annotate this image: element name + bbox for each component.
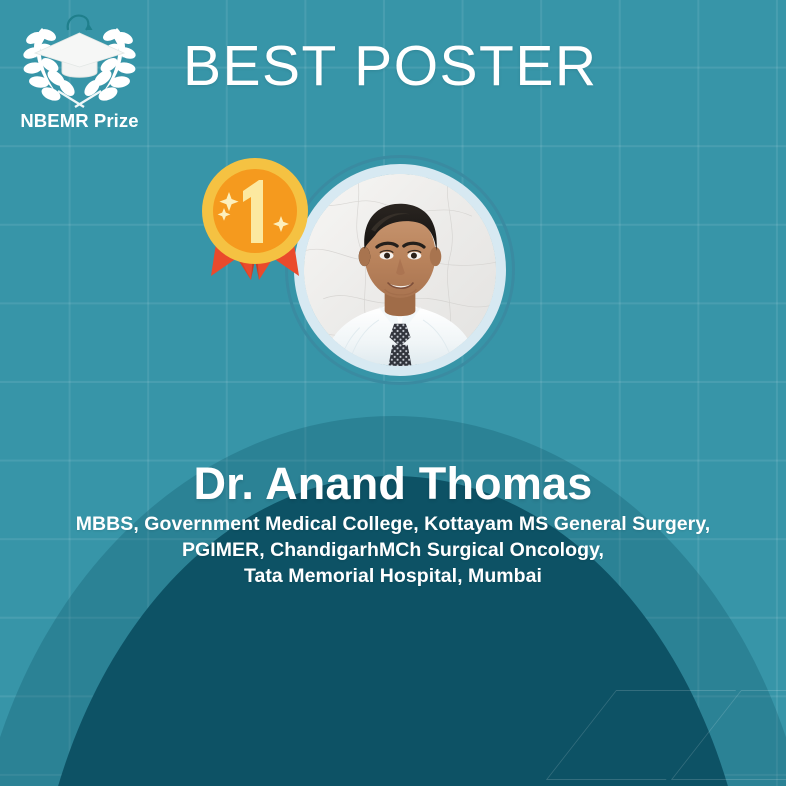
award-poster: NBEMR Prize BEST POSTER [0,0,786,786]
first-place-medal-icon [193,152,317,286]
logo-text: NBEMR Prize [20,110,138,132]
first-place-medal [193,152,317,286]
awardee-photo [285,155,515,385]
credential-line-1: MBBS, Government Medical College, Kottay… [0,512,786,538]
nbemr-prize-logo: NBEMR Prize [12,6,147,146]
awardee-credentials: MBBS, Government Medical College, Kottay… [0,512,786,590]
page-title: BEST POSTER [183,37,598,97]
awardee-name: Dr. Anand Thomas [0,458,786,510]
credential-line-2: PGIMER, ChandigarhMCh Surgical Oncology, [0,538,786,564]
laurel-wreath-graduation-cap-icon [12,6,147,114]
awardee-portrait [304,174,496,366]
photo-clip [304,174,496,366]
credential-line-3: Tata Memorial Hospital, Mumbai [0,564,786,590]
